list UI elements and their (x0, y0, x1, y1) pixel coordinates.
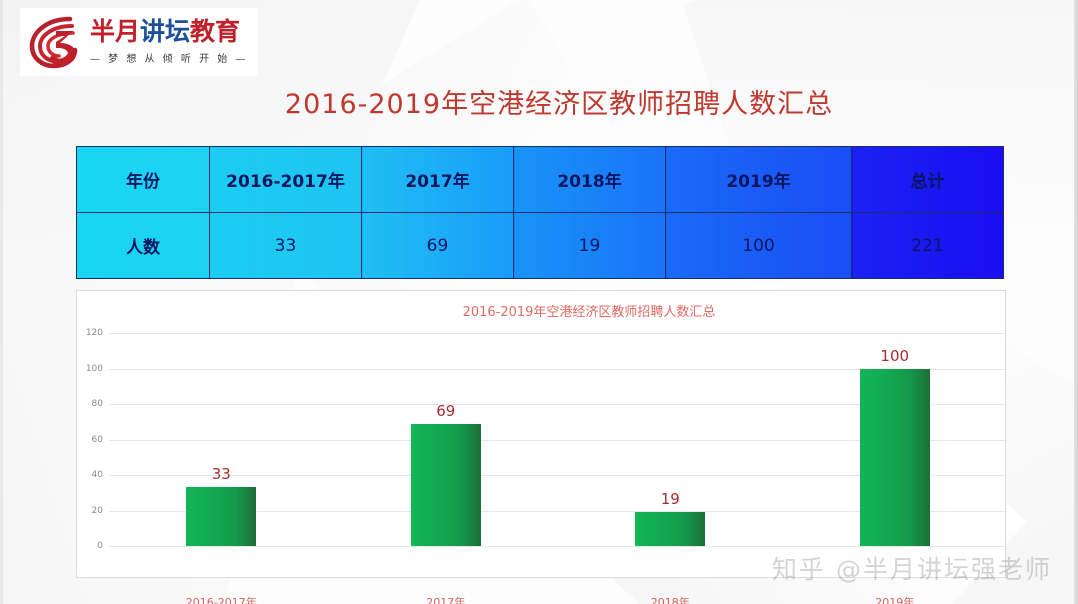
table-header-cell: 2019年 (666, 147, 852, 213)
y-axis-tick-label: 80 (92, 399, 103, 409)
summary-table: 年份 2016-2017年 2017年 2018年 2019年 总计 人数 33… (76, 146, 1004, 279)
x-axis-tick-label: 2018年 (651, 594, 690, 604)
y-axis-tick-label: 0 (97, 541, 103, 551)
chart-bar (860, 369, 930, 547)
y-axis-tick-label: 120 (86, 328, 103, 338)
chart-gridline: 120 (109, 333, 1007, 334)
brand-logo: 半月讲坛教育 — 梦 想 从 倾 听 开 始 — (20, 8, 258, 76)
table-row-header: 年份 2016-2017年 2017年 2018年 2019年 总计 (77, 147, 1004, 213)
table-row-values: 人数 33 69 19 100 221 (77, 213, 1004, 279)
chart-plot-area: 020406080100120332016-2017年692017年192018… (109, 333, 1007, 546)
table-value-cell-total: 221 (852, 213, 1004, 279)
y-axis-tick-label: 40 (92, 470, 103, 480)
brand-tagline: — 梦 想 从 倾 听 开 始 — (90, 50, 248, 65)
x-axis-tick-label: 2019年 (875, 594, 914, 604)
chart-bar (186, 487, 256, 546)
table-value-cell: 100 (666, 213, 852, 279)
chart-data-label: 69 (436, 402, 455, 420)
y-axis-tick-label: 20 (92, 506, 103, 516)
table-header-cell: 2018年 (514, 147, 666, 213)
table-value-cell: 69 (362, 213, 514, 279)
chart-title: 2016-2019年空港经济区教师招聘人数汇总 (77, 301, 1005, 320)
table-row-label-years: 年份 (77, 147, 210, 213)
chart-data-label: 100 (880, 347, 909, 365)
table-header-cell: 2016-2017年 (210, 147, 362, 213)
y-axis-tick-label: 100 (86, 364, 103, 374)
brand-name-part1: 半月 (90, 17, 140, 46)
brand-name-part2: 讲坛 (140, 17, 190, 46)
page-title: 2016-2019年空港经济区教师招聘人数汇总 (0, 82, 1078, 121)
slide-canvas: 半月讲坛教育 — 梦 想 从 倾 听 开 始 — 2016-2019年空港经济区… (0, 0, 1078, 604)
swirl-b-logo-icon (26, 13, 88, 71)
chart-bar (411, 424, 481, 546)
bar-chart: 2016-2019年空港经济区教师招聘人数汇总 0204060801001203… (76, 290, 1006, 578)
chart-data-label: 19 (661, 490, 680, 508)
y-axis-tick-label: 60 (92, 435, 103, 445)
chart-gridline: 0 (109, 546, 1007, 547)
brand-name: 半月讲坛教育 (90, 19, 248, 45)
chart-bar (635, 512, 705, 546)
brand-name-part3: 教育 (190, 17, 240, 46)
x-axis-tick-label: 2016-2017年 (186, 594, 257, 604)
table-header-cell-total: 总计 (852, 147, 1004, 213)
table-value-cell: 33 (210, 213, 362, 279)
table-value-cell: 19 (514, 213, 666, 279)
brand-text: 半月讲坛教育 — 梦 想 从 倾 听 开 始 — (90, 19, 248, 64)
table-header-cell: 2017年 (362, 147, 514, 213)
x-axis-tick-label: 2017年 (426, 594, 465, 604)
chart-data-label: 33 (212, 465, 231, 483)
table-row-label-count: 人数 (77, 213, 210, 279)
